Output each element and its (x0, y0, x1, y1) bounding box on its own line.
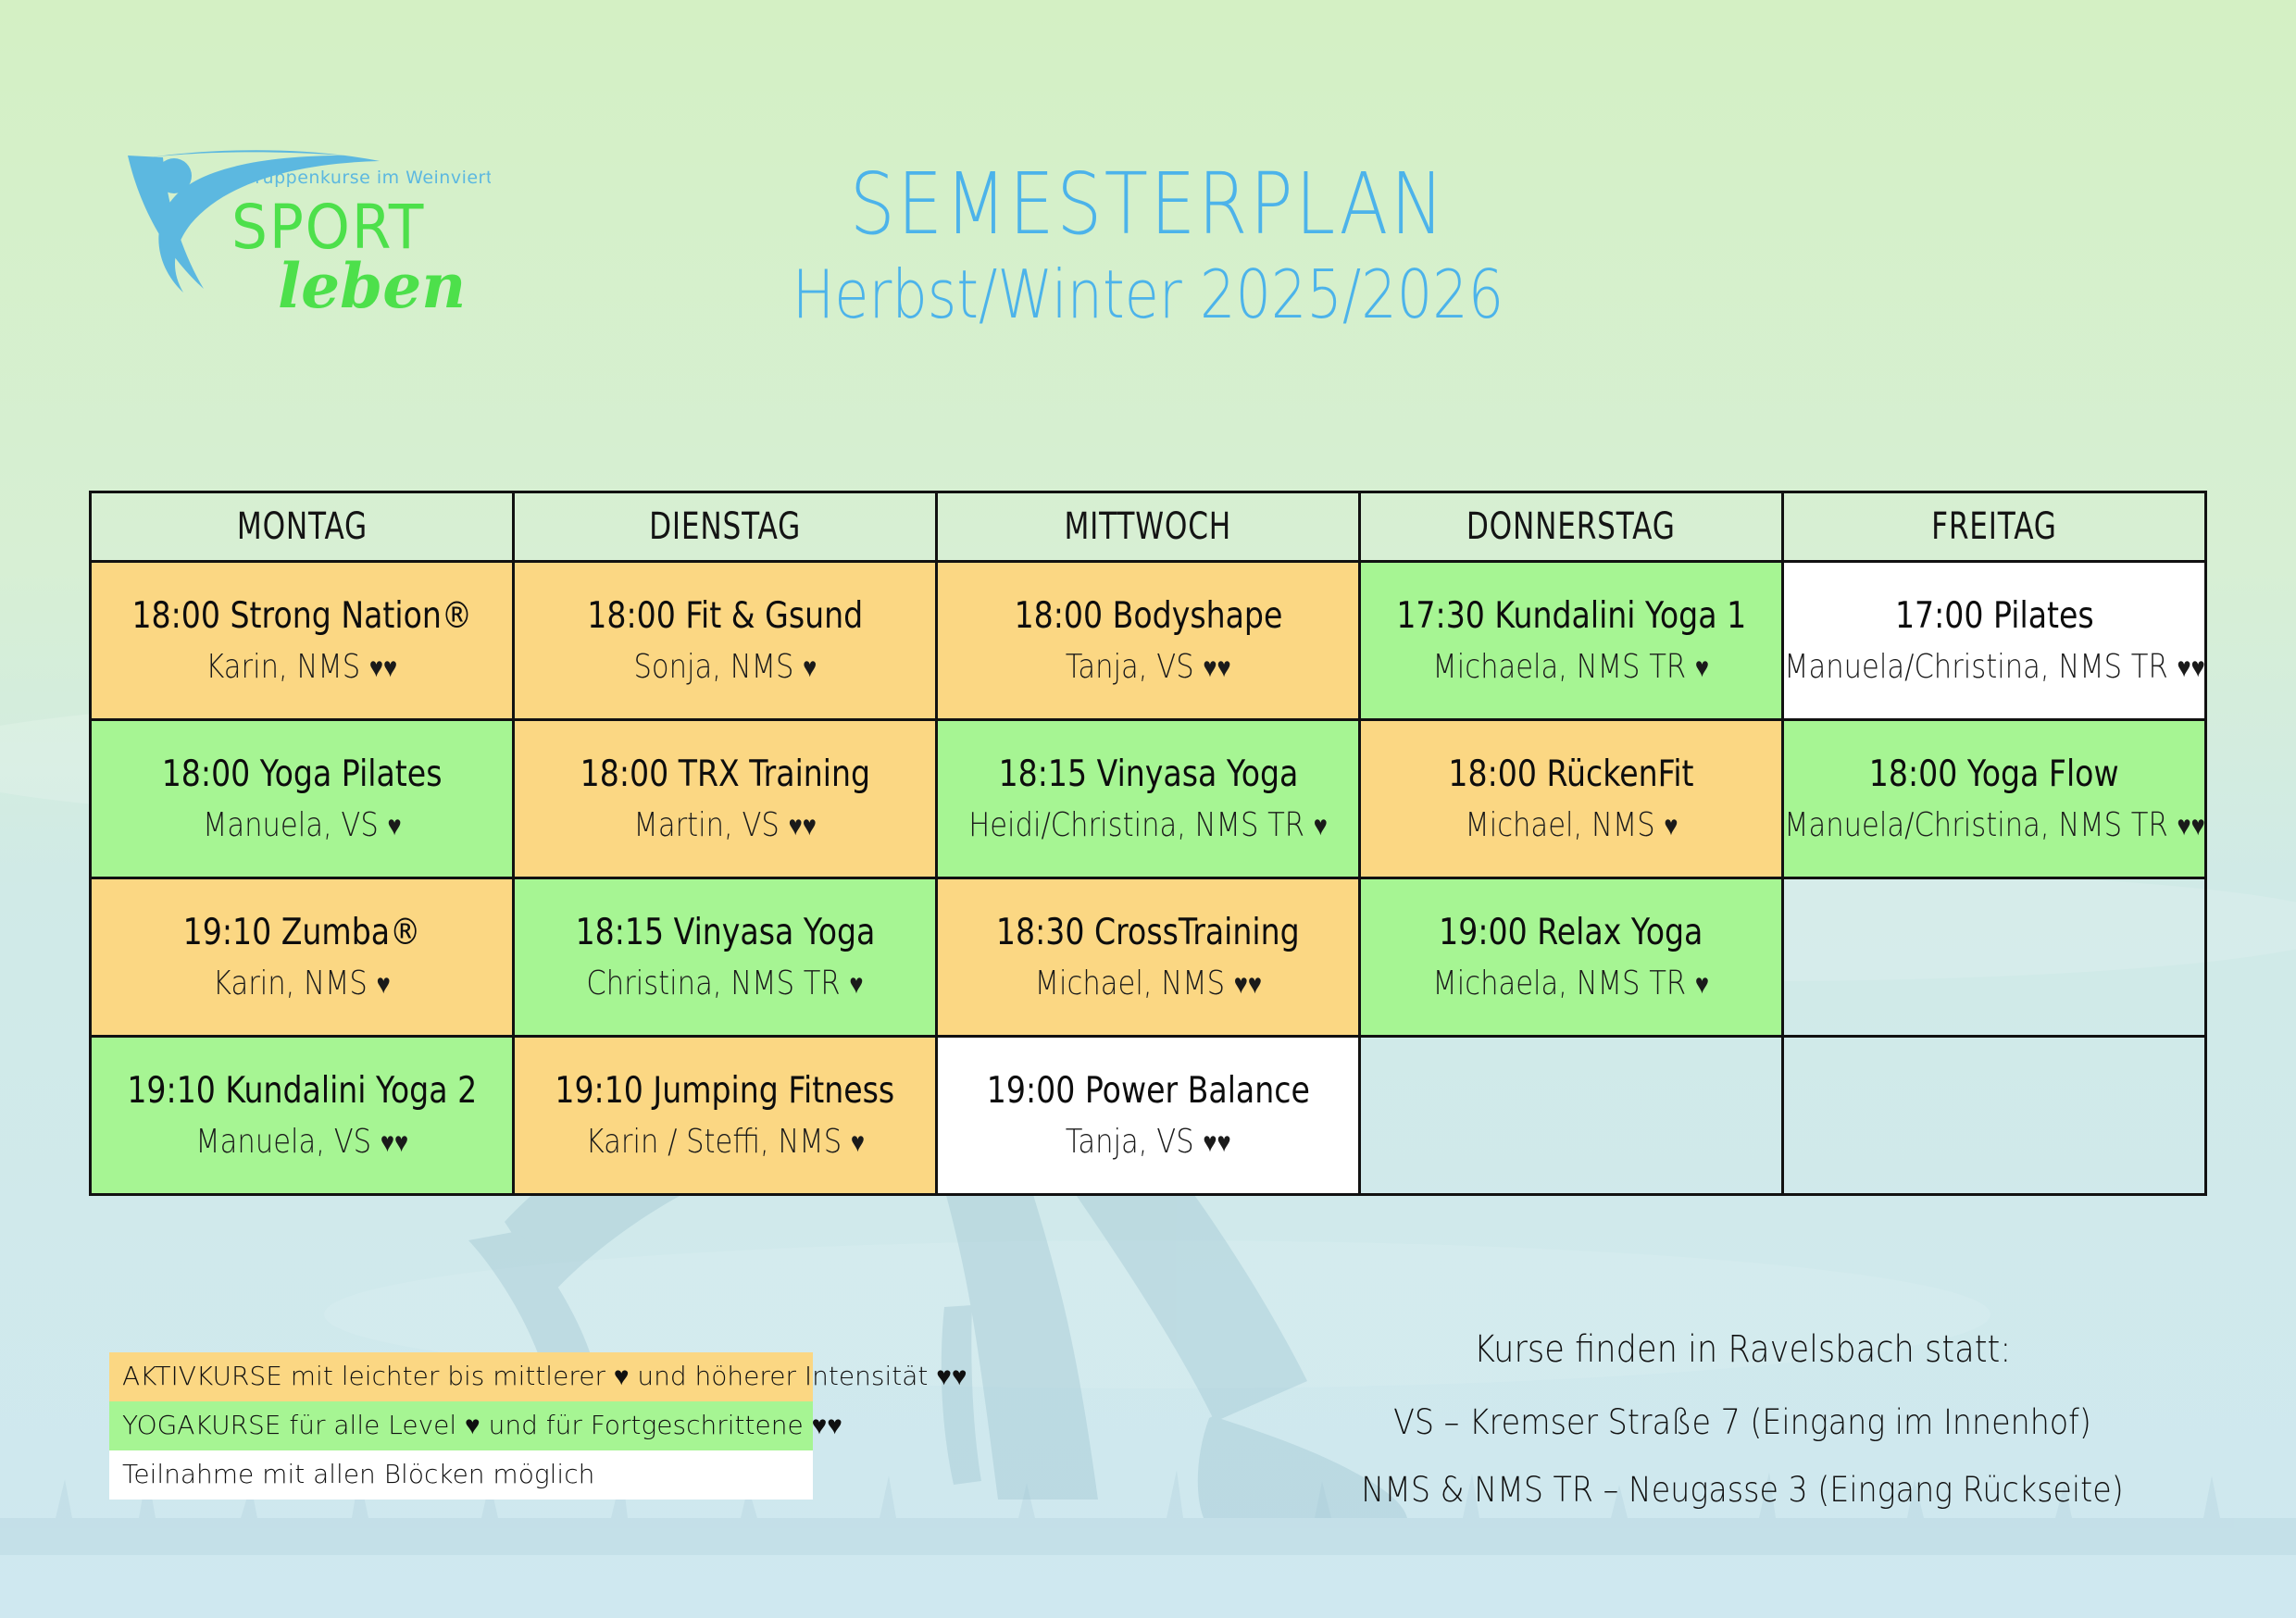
course-title: 18:00 Yoga Pilates (162, 753, 443, 795)
course-cell-content: 18:00 Strong Nation®Karin, NMS ♥♥ (92, 563, 512, 718)
heart-icon: ♥♥ (369, 652, 397, 684)
location-nms: NMS & NMS TR – Neugasse 3 (Eingang Rücks… (1334, 1470, 2151, 1510)
course-cell[interactable]: 18:00 Fit & GsundSonja, NMS ♥ (514, 562, 937, 720)
heart-icon: ♥ (1314, 810, 1328, 842)
legend-aktivkurse: AKTIVKURSE mit leichter bis mittlerer ♥ … (109, 1352, 813, 1401)
course-title: 18:00 Bodyshape (1014, 595, 1282, 637)
course-cell[interactable]: 19:00 Power BalanceTanja, VS ♥♥ (937, 1037, 1360, 1195)
course-instructor-location: Michaela, NMS TR ♥ (1433, 648, 1710, 686)
table-row: 18:00 Yoga PilatesManuela, VS ♥18:00 TRX… (91, 720, 2206, 878)
day-header-dienstag: DIENSTAG (514, 492, 937, 562)
heart-icon: ♥ (803, 652, 817, 684)
course-instructor-location: Christina, NMS TR ♥ (586, 965, 863, 1002)
course-cell[interactable]: 17:30 Kundalini Yoga 1Michaela, NMS TR ♥ (1360, 562, 1783, 720)
course-cell[interactable]: 18:00 Strong Nation®Karin, NMS ♥♥ (91, 562, 514, 720)
course-cell-content: 18:00 Yoga FlowManuela/Christina, NMS TR… (1784, 721, 2204, 877)
course-title: 19:10 Zumba® (183, 912, 421, 953)
day-header-label: MITTWOCH (1065, 505, 1232, 548)
heart-icon: ♥ (387, 810, 401, 842)
course-title: 19:00 Relax Yoga (1439, 912, 1703, 953)
heart-icon: ♥♥ (381, 1126, 408, 1159)
course-cell-content: 19:10 Jumping FitnessKarin / Steffi, NMS… (515, 1038, 935, 1193)
course-cell-empty (1783, 878, 2206, 1037)
course-cell[interactable]: 19:00 Relax YogaMichaela, NMS TR ♥ (1360, 878, 1783, 1037)
course-cell-content: 19:10 Kundalini Yoga 2Manuela, VS ♥♥ (92, 1038, 512, 1193)
heart-icon: ♥ (1664, 810, 1678, 842)
course-instructor-location: Tanja, VS ♥♥ (1066, 1123, 1231, 1161)
day-header-mittwoch: MITTWOCH (937, 492, 1360, 562)
course-cell[interactable]: 19:10 Kundalini Yoga 2Manuela, VS ♥♥ (91, 1037, 514, 1195)
course-cell-content: 19:00 Power BalanceTanja, VS ♥♥ (938, 1038, 1358, 1193)
table-row: 19:10 Kundalini Yoga 2Manuela, VS ♥♥19:1… (91, 1037, 2206, 1195)
legend-teilnahme: Teilnahme mit allen Blöcken möglich (109, 1450, 813, 1500)
course-title: 18:00 Yoga Flow (1869, 753, 2119, 795)
course-instructor-location: Michaela, NMS TR ♥ (1433, 965, 1710, 1002)
course-cell[interactable]: 18:00 Yoga PilatesManuela, VS ♥ (91, 720, 514, 878)
course-title: 17:00 Pilates (1895, 595, 2094, 637)
course-instructor-location: Tanja, VS ♥♥ (1066, 648, 1231, 686)
heart-icon: ♥ (377, 968, 391, 1001)
course-title: 18:15 Vinyasa Yoga (575, 912, 875, 953)
location-vs: VS – Kremser Straße 7 (Eingang im Innenh… (1334, 1402, 2151, 1442)
course-cell-content: 17:00 PilatesManuela/Christina, NMS TR ♥… (1784, 563, 2204, 718)
course-title: 18:00 Fit & Gsund (587, 595, 863, 637)
day-header-label: DIENSTAG (649, 505, 801, 548)
course-cell-content: 18:30 CrossTrainingMichael, NMS ♥♥ (938, 879, 1358, 1035)
course-cell-content: 18:00 TRX TrainingMartin, VS ♥♥ (515, 721, 935, 877)
heart-icon: ♥ (1695, 968, 1709, 1001)
course-instructor-location: Michael, NMS ♥♥ (1034, 965, 1261, 1002)
course-instructor-location: Heidi/Christina, NMS TR ♥ (968, 806, 1328, 844)
course-cell[interactable]: 18:15 Vinyasa YogaHeidi/Christina, NMS T… (937, 720, 1360, 878)
course-cell-content: 18:00 BodyshapeTanja, VS ♥♥ (938, 563, 1358, 718)
course-title: 18:00 RückenFit (1448, 753, 1693, 795)
course-instructor-location: Karin, NMS ♥♥ (206, 648, 398, 686)
day-header-label: DONNERSTAG (1466, 505, 1676, 548)
heart-icon: ♥♥ (2177, 652, 2204, 684)
heart-icon: ♥♥ (2177, 810, 2204, 842)
course-cell[interactable]: 18:00 Yoga FlowManuela/Christina, NMS TR… (1783, 720, 2206, 878)
course-cell[interactable]: 18:00 BodyshapeTanja, VS ♥♥ (937, 562, 1360, 720)
course-cell-content: 19:10 Zumba®Karin, NMS ♥ (92, 879, 512, 1035)
course-cell-empty (1783, 1037, 2206, 1195)
course-cell-content: 18:15 Vinyasa YogaChristina, NMS TR ♥ (515, 879, 935, 1035)
course-cell[interactable]: 17:00 PilatesManuela/Christina, NMS TR ♥… (1783, 562, 2206, 720)
day-header-label: MONTAG (236, 505, 367, 548)
course-cell[interactable]: 18:00 RückenFitMichael, NMS ♥ (1360, 720, 1783, 878)
course-title: 18:15 Vinyasa Yoga (998, 753, 1298, 795)
course-cell[interactable]: 19:10 Jumping FitnessKarin / Steffi, NMS… (514, 1037, 937, 1195)
locations-block: Kurse finden in Ravelsbach statt: VS – K… (1289, 1328, 2196, 1537)
course-title: 19:10 Kundalini Yoga 2 (127, 1070, 477, 1112)
course-title: 17:30 Kundalini Yoga 1 (1396, 595, 1746, 637)
course-cell-content: 18:00 RückenFitMichael, NMS ♥ (1361, 721, 1781, 877)
table-header-row: MONTAG DIENSTAG MITTWOCH DONNERSTAG FREI… (91, 492, 2206, 562)
heart-icon: ♥♥ (1233, 968, 1261, 1001)
course-cell[interactable]: 18:15 Vinyasa YogaChristina, NMS TR ♥ (514, 878, 937, 1037)
course-title: 18:00 TRX Training (580, 753, 869, 795)
page-subtitle: Herbst/Winter 2025/2026 (183, 253, 2112, 336)
day-header-label: FREITAG (1931, 505, 2057, 548)
course-cell[interactable]: 18:00 TRX TrainingMartin, VS ♥♥ (514, 720, 937, 878)
locations-heading: Kurse finden in Ravelsbach statt: (1343, 1328, 2141, 1371)
course-title: 18:00 Strong Nation® (131, 595, 472, 637)
course-cell[interactable]: 18:30 CrossTrainingMichael, NMS ♥♥ (937, 878, 1360, 1037)
table-row: 18:00 Strong Nation®Karin, NMS ♥♥18:00 F… (91, 562, 2206, 720)
course-instructor-location: Karin / Steffi, NMS ♥ (585, 1123, 864, 1161)
course-cell-content: 17:30 Kundalini Yoga 1Michaela, NMS TR ♥ (1361, 563, 1781, 718)
course-cell-empty (1360, 1037, 1783, 1195)
course-instructor-location: Manuela/Christina, NMS TR ♥♥ (1784, 806, 2205, 844)
course-cell-content: 18:00 Fit & GsundSonja, NMS ♥ (515, 563, 935, 718)
legend-yogakurse: YOGAKURSE für alle Level ♥ und für Fortg… (109, 1401, 813, 1450)
schedule-body: 18:00 Strong Nation®Karin, NMS ♥♥18:00 F… (91, 562, 2206, 1195)
course-title: 18:30 CrossTraining (996, 912, 1300, 953)
course-instructor-location: Martin, VS ♥♥ (633, 806, 816, 844)
course-instructor-location: Manuela, VS ♥♥ (195, 1123, 408, 1161)
course-title: 19:10 Jumping Fitness (555, 1070, 895, 1112)
heart-icon: ♥♥ (1203, 1126, 1230, 1159)
course-title: 19:00 Power Balance (986, 1070, 1309, 1112)
heart-icon: ♥ (849, 968, 863, 1001)
course-instructor-location: Sonja, NMS ♥ (633, 648, 817, 686)
course-cell-content: 18:15 Vinyasa YogaHeidi/Christina, NMS T… (938, 721, 1358, 877)
course-instructor-location: Manuela, VS ♥ (203, 806, 402, 844)
course-instructor-location: Karin, NMS ♥ (213, 965, 391, 1002)
day-header-montag: MONTAG (91, 492, 514, 562)
course-cell-content: 19:00 Relax YogaMichaela, NMS TR ♥ (1361, 879, 1781, 1035)
page-title-block: SEMESTERPLAN Herbst/Winter 2025/2026 (0, 162, 2296, 336)
page-title: SEMESTERPLAN (183, 162, 2112, 247)
table-row: 19:10 Zumba®Karin, NMS ♥18:15 Vinyasa Yo… (91, 878, 2206, 1037)
heart-icon: ♥ (851, 1126, 865, 1159)
heart-icon: ♥ (1695, 652, 1709, 684)
day-header-donnerstag: DONNERSTAG (1360, 492, 1783, 562)
heart-icon: ♥♥ (1203, 652, 1230, 684)
course-cell-content: 18:00 Yoga PilatesManuela, VS ♥ (92, 721, 512, 877)
day-header-freitag: FREITAG (1783, 492, 2206, 562)
heart-icon: ♥♥ (788, 810, 816, 842)
course-instructor-location: Michael, NMS ♥ (1465, 806, 1678, 844)
course-instructor-location: Manuela/Christina, NMS TR ♥♥ (1784, 648, 2205, 686)
course-cell[interactable]: 19:10 Zumba®Karin, NMS ♥ (91, 878, 514, 1037)
legend-box: AKTIVKURSE mit leichter bis mittlerer ♥ … (109, 1352, 813, 1500)
schedule-table: MONTAG DIENSTAG MITTWOCH DONNERSTAG FREI… (89, 491, 2207, 1196)
